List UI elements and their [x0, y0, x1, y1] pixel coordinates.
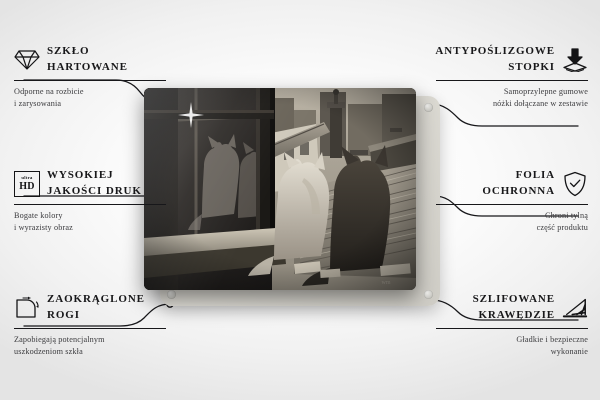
feature-subtitle: Gładkie i bezpieczne wykonanie	[436, 334, 588, 359]
feature-title: ZAOKRĄGLONE ROGI	[47, 292, 145, 324]
feature-heading: FOLIA OCHRONNA	[436, 168, 588, 200]
feature-zaokraglone-rogi: ZAOKRĄGLONE ROGI Zapobiegają potencjalny…	[14, 292, 166, 359]
infographic-canvas: wm	[0, 0, 600, 400]
feature-underline	[14, 328, 166, 329]
feature-subtitle: Bogate kolory i wyrazisty obraz	[14, 210, 166, 235]
rubber-foot	[167, 290, 176, 299]
feature-underline	[436, 328, 588, 329]
feature-title: SZLIFOWANE KRAWĘDZIE	[473, 292, 555, 324]
polished-edge-icon	[562, 295, 588, 321]
diamond-icon	[14, 47, 40, 73]
feature-subtitle: Chroni tylną część produktu	[436, 210, 588, 235]
rounded-corner-icon	[14, 295, 40, 321]
anti-slip-feet-icon	[562, 47, 588, 73]
feature-heading: ultra HD WYSOKIEJ JAKOŚCI DRUK	[14, 168, 166, 200]
feature-underline	[436, 80, 588, 81]
feature-heading: SZLIFOWANE KRAWĘDZIE	[436, 292, 588, 324]
feature-subtitle: Samoprzylepne gumowe nóżki dołączane w z…	[436, 86, 588, 111]
rubber-foot	[424, 103, 433, 112]
feature-underline	[436, 204, 588, 205]
feature-wysokiej-jakosci-druk: ultra HD WYSOKIEJ JAKOŚCI DRUK Bogate ko…	[14, 168, 166, 235]
feature-subtitle: Odporne na rozbicie i zarysowania	[14, 86, 166, 111]
feature-title: FOLIA OCHRONNA	[482, 168, 555, 200]
feature-heading: SZKŁO HARTOWANE	[14, 44, 166, 76]
feature-szklo-hartowane: SZKŁO HARTOWANE Odporne na rozbicie i za…	[14, 44, 166, 111]
shield-check-icon	[562, 171, 588, 197]
product-image: wm	[160, 96, 440, 306]
rubber-foot	[424, 290, 433, 299]
feature-subtitle: Zapobiegają potencjalnym uszkodzeniom sz…	[14, 334, 166, 359]
feature-szlifowane-krawedzie: SZLIFOWANE KRAWĘDZIE Gładkie i bezpieczn…	[436, 292, 588, 359]
feature-title: SZKŁO HARTOWANE	[47, 44, 128, 76]
feature-heading: ZAOKRĄGLONE ROGI	[14, 292, 166, 324]
feature-title: ANTYPOŚLIZGOWE STOPKI	[435, 44, 555, 76]
feature-heading: ANTYPOŚLIZGOWE STOPKI	[436, 44, 588, 76]
feature-folia-ochronna: FOLIA OCHRONNA Chroni tylną część produk…	[436, 168, 588, 235]
photo-artwork: wm	[144, 88, 416, 290]
feature-underline	[14, 80, 166, 81]
cats-window-photograph: wm	[144, 88, 416, 290]
feature-antyposlizgowe-stopki: ANTYPOŚLIZGOWE STOPKI Samoprzylepne gumo…	[436, 44, 588, 111]
feature-underline	[14, 204, 166, 205]
ultra-hd-icon: ultra HD	[14, 171, 40, 197]
feature-title: WYSOKIEJ JAKOŚCI DRUK	[47, 168, 142, 200]
